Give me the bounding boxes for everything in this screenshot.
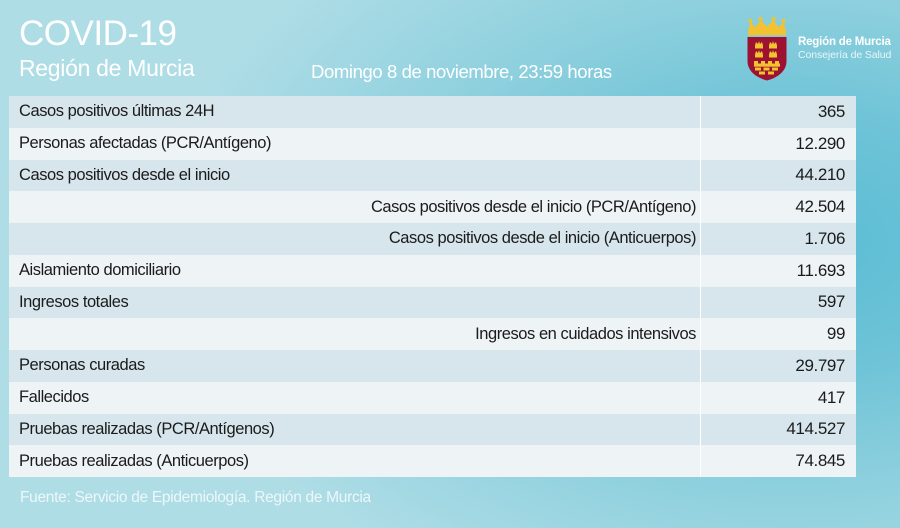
table-row-label: Personas afectadas (PCR/Antígeno) (9, 134, 700, 153)
table-row-value: 44.210 (701, 165, 856, 185)
table-row: Fallecidos417 (9, 382, 856, 414)
table-row-label: Casos positivos desde el inicio (9, 166, 700, 185)
table-row-value: 12.290 (701, 134, 856, 154)
table-row-value: 29.797 (701, 356, 856, 376)
table-row-value: 417 (701, 388, 856, 408)
table-row-label: Fallecidos (9, 388, 700, 407)
table-row-value: 414.527 (701, 419, 856, 439)
source-footnote: Fuente: Servicio de Epidemiología. Regió… (20, 489, 371, 507)
covid-stats-poster: COVID-19 Región de Murcia Domingo 8 de n… (0, 0, 900, 528)
table-row: Personas afectadas (PCR/Antígeno)12.290 (9, 128, 856, 160)
table-row-label: Aislamiento domiciliario (9, 261, 700, 280)
table-row-label: Personas curadas (9, 356, 700, 375)
table-row: Pruebas realizadas (PCR/Antígenos)414.52… (9, 414, 856, 446)
logo-department-label: Consejería de Salud (798, 49, 894, 62)
table-row-label: Casos positivos últimas 24H (9, 102, 700, 121)
page-subtitle: Región de Murcia (19, 55, 194, 81)
table-row-value: 1.706 (701, 229, 856, 249)
table-row: Ingresos totales597 (9, 287, 856, 319)
murcia-coat-of-arms-icon (742, 15, 792, 81)
table-row: Casos positivos desde el inicio (PCR/Ant… (9, 191, 856, 223)
logo-text: Región de Murcia Consejería de Salud (798, 35, 894, 62)
table-row-value: 42.504 (701, 197, 856, 217)
table-row-label: Ingresos totales (9, 293, 700, 312)
logo-region-label: Región de Murcia (798, 35, 894, 49)
table-row-label: Ingresos en cuidados intensivos (9, 325, 700, 344)
table-row-value: 99 (701, 324, 856, 344)
table-row-value: 365 (701, 102, 856, 122)
table-row-label: Casos positivos desde el inicio (Anticue… (9, 229, 700, 248)
region-de-murcia-logo: Región de Murcia Consejería de Salud (742, 15, 892, 83)
table-row: Pruebas realizadas (Anticuerpos)74.845 (9, 445, 856, 477)
statistics-table: Casos positivos últimas 24H365Personas a… (9, 96, 856, 477)
report-date: Domingo 8 de noviembre, 23:59 horas (311, 61, 612, 83)
table-row: Aislamiento domiciliario11.693 (9, 255, 856, 287)
table-row-label: Pruebas realizadas (Anticuerpos) (9, 452, 700, 471)
table-row: Casos positivos últimas 24H365 (9, 96, 856, 128)
table-row: Casos positivos desde el inicio44.210 (9, 160, 856, 192)
table-row-value: 11.693 (701, 261, 856, 281)
page-title: COVID-19 (19, 14, 194, 54)
table-row-value: 597 (701, 292, 856, 312)
table-row: Ingresos en cuidados intensivos99 (9, 318, 856, 350)
table-row-label: Pruebas realizadas (PCR/Antígenos) (9, 420, 700, 439)
poster-header: COVID-19 Región de Murcia Domingo 8 de n… (0, 0, 900, 96)
table-row: Personas curadas29.797 (9, 350, 856, 382)
title-block: COVID-19 Región de Murcia (19, 14, 194, 81)
table-row: Casos positivos desde el inicio (Anticue… (9, 223, 856, 255)
table-row-label: Casos positivos desde el inicio (PCR/Ant… (9, 198, 700, 217)
table-row-value: 74.845 (701, 451, 856, 471)
